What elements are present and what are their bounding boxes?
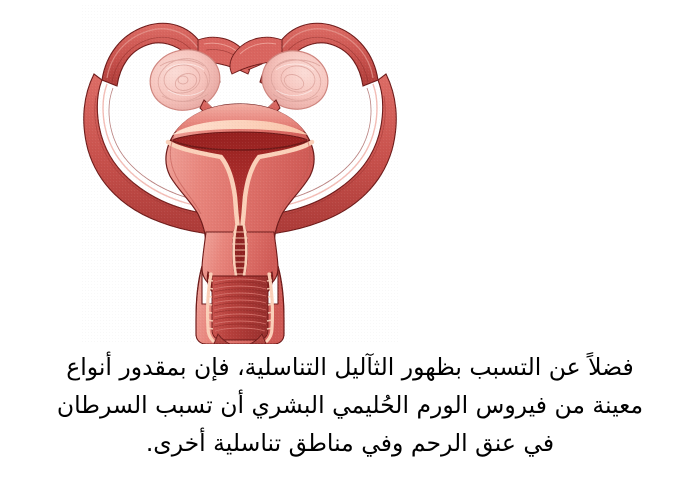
caption-line-3: في عنق الرحم وفي مناطق تناسلية أخرى. [0,424,700,462]
caption-text-block: فضلاً عن التسبب بظهور الثآليل التناسلية،… [0,348,700,462]
caption-line-2: معينة من فيروس الورم الحُليمي البشري أن … [0,386,700,424]
page-root: فضلاً عن التسبب بظهور الثآليل التناسلية،… [0,0,700,480]
female-reproductive-system-illustration [80,4,400,344]
caption-line-1: فضلاً عن التسبب بظهور الثآليل التناسلية،… [0,348,700,386]
